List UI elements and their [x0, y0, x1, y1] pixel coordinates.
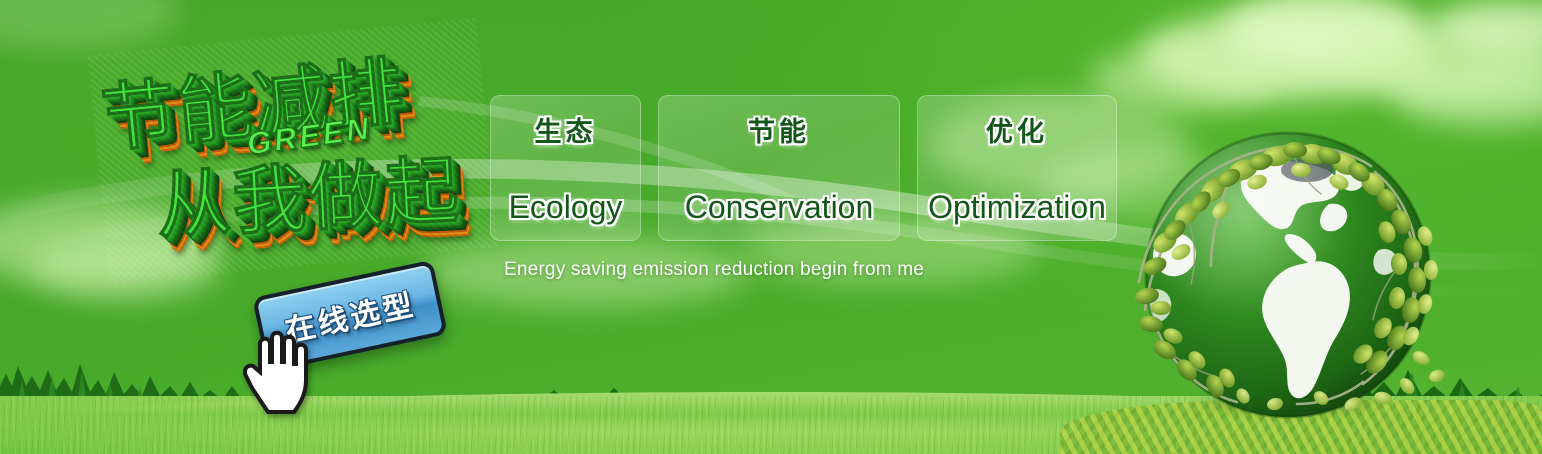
feature-card-optimization[interactable]: 优化 Optimization	[917, 95, 1117, 241]
tagline: Energy saving emission reduction begin f…	[504, 259, 924, 281]
feature-card-cn-label: 节能	[748, 110, 810, 149]
feature-card-cn-label: 生态	[535, 110, 597, 149]
feature-card-en-label: Ecology	[509, 189, 623, 226]
leafy-earth-globe	[1143, 130, 1433, 420]
feature-card-conservation[interactable]: 节能 Conservation	[658, 95, 900, 241]
feature-cards: 生态 Ecology 节能 Conservation 优化 Optimizati…	[490, 95, 1117, 241]
feature-card-cn-label: 优化	[986, 110, 1048, 149]
feature-card-en-label: Conservation	[685, 189, 874, 226]
eco-banner: 节能减排 GREEN 从我做起 在线选型 生态 Ecology 节能 Conse…	[0, 0, 1542, 454]
feature-card-en-label: Optimization	[928, 189, 1106, 226]
globe-icon	[1143, 130, 1433, 420]
feature-card-ecology[interactable]: 生态 Ecology	[490, 95, 641, 241]
hero-title-3d: 节能减排 GREEN 从我做起	[88, 18, 498, 284]
hero-title-line2: 从我做起	[153, 131, 462, 254]
